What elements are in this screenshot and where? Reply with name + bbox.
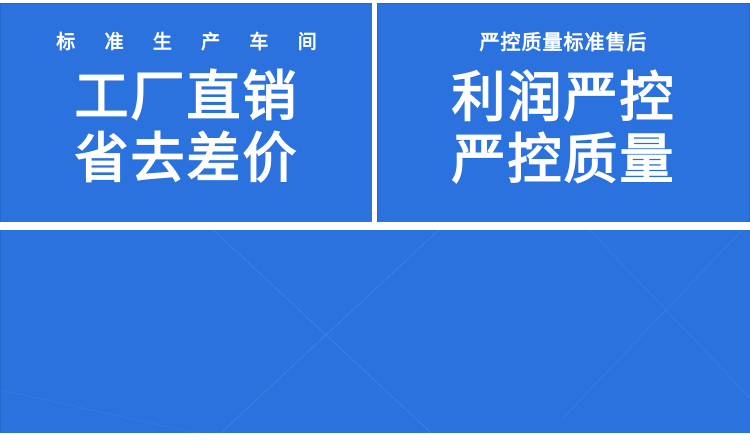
promo-graphic: 标 准 生 产 车 间 工厂直销 省去差价 严控质量标准售后 利润严控 严控质量… bbox=[0, 0, 750, 440]
panel-headline-right-line2: 严控质量 bbox=[452, 129, 676, 191]
panel-headline-left-line2: 省去差价 bbox=[75, 128, 299, 190]
panel-headline-left-line1: 工厂直销 bbox=[75, 66, 299, 128]
panel-headline-right-line1: 利润严控 bbox=[452, 67, 676, 129]
panel-factory-direct: 标 准 生 产 车 间 工厂直销 省去差价 bbox=[0, 3, 372, 222]
panel-eyebrow-left: 标 准 生 产 车 间 bbox=[44, 33, 328, 52]
banner-details-advantages: 细节与优势 不怕货比，就怕不识货 bbox=[0, 230, 750, 433]
panel-eyebrow-right: 严控质量标准售后 bbox=[480, 33, 648, 53]
diagonal-watermark-icon bbox=[1, 230, 750, 433]
panel-quality-control: 严控质量标准售后 利润严控 严控质量 bbox=[377, 3, 750, 222]
